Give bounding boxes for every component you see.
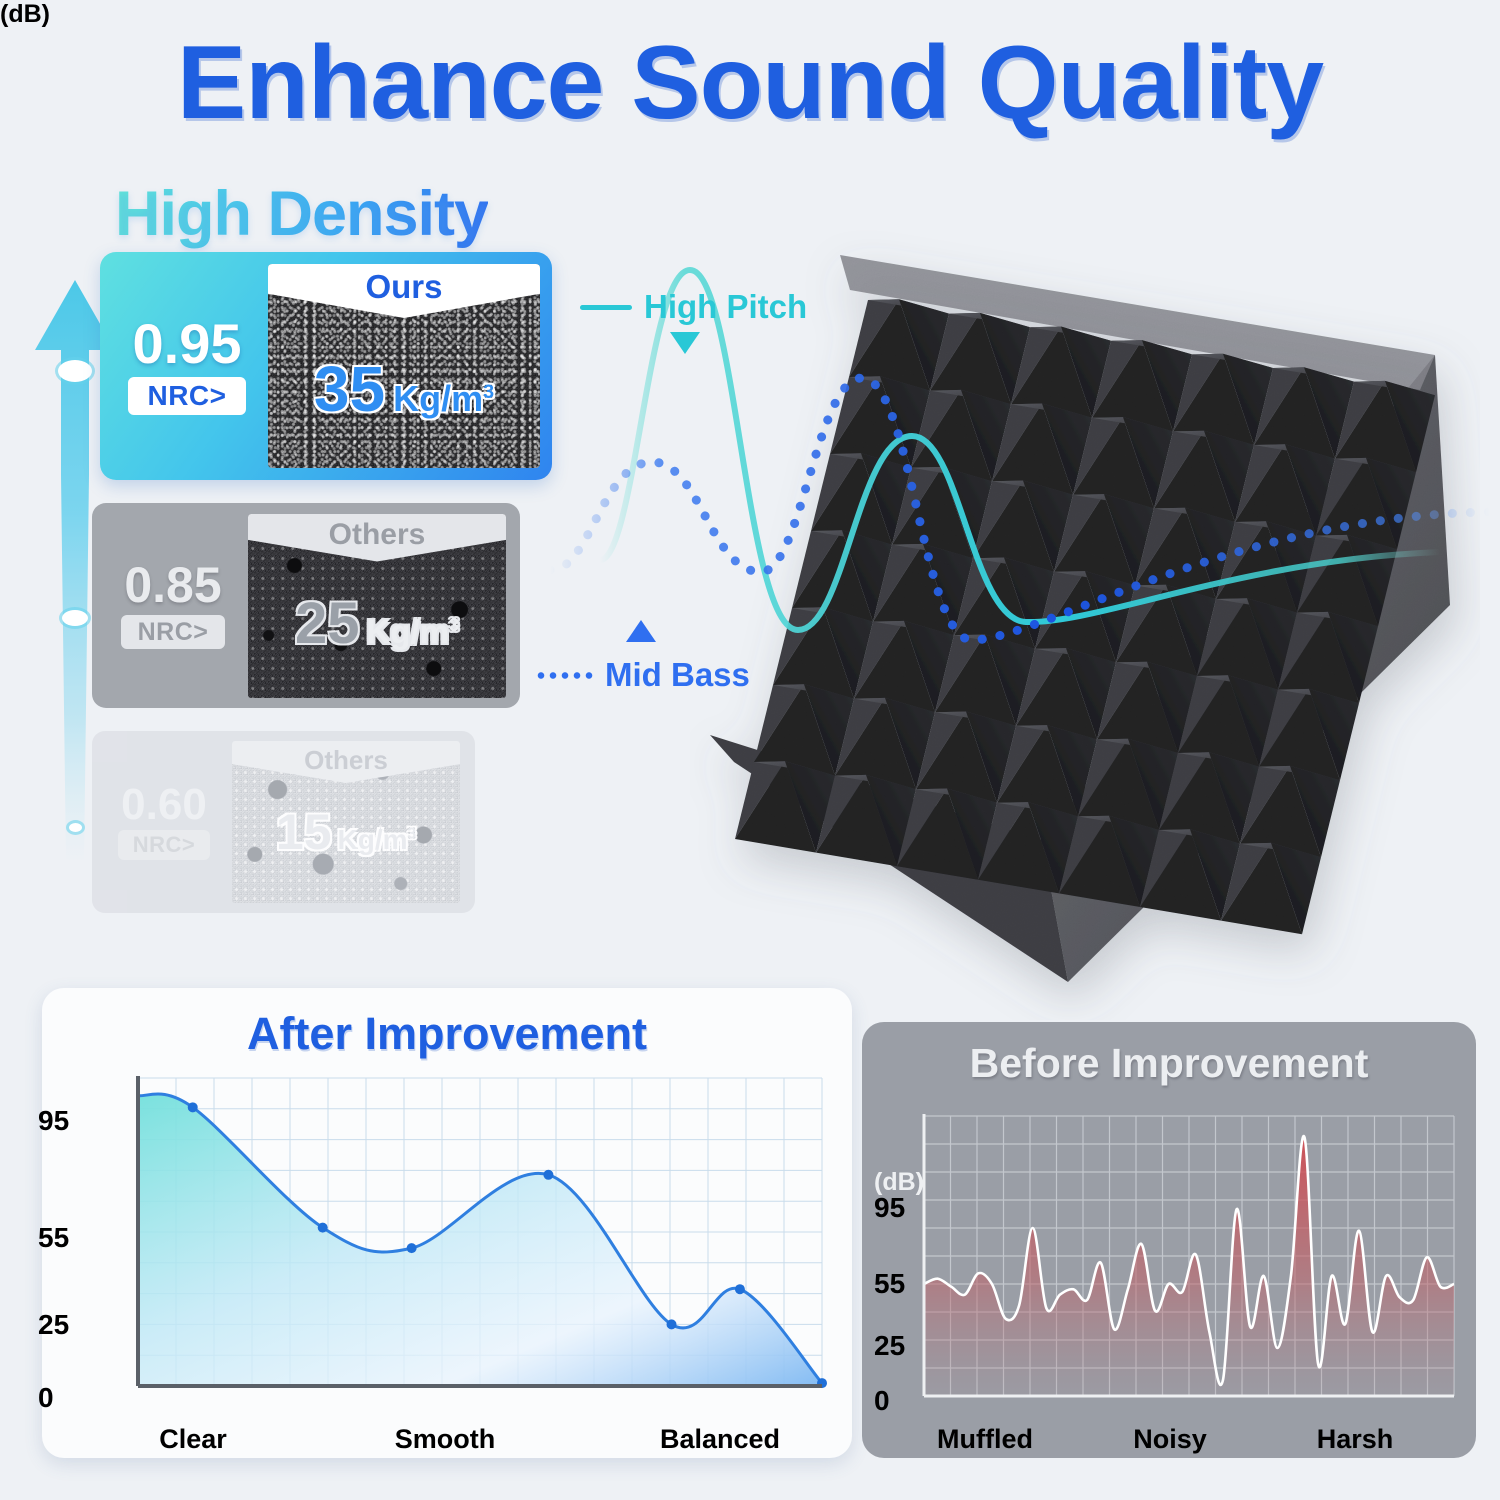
y-tick-95: 95: [38, 1105, 69, 1137]
foam-texture-swatch: Others 25 Kg/m3: [248, 514, 506, 698]
acoustic-foam-panel-illustration: [690, 150, 1480, 1020]
card-banner-label: Ours: [268, 264, 540, 318]
nrc-value: 0.95: [133, 317, 242, 370]
x-tick-harsh: Harsh: [1285, 1424, 1425, 1455]
x-tick-clear: Clear: [118, 1424, 268, 1455]
density-value: 35: [314, 352, 385, 426]
page-title: Enhance Sound Quality: [0, 24, 1500, 143]
axis-marker-dot-1: [58, 360, 92, 382]
density-unit: Kg/m3: [338, 824, 417, 856]
data-point: [543, 1170, 553, 1180]
nrc-column: 0.85 NRC>: [102, 562, 244, 650]
nrc-label: NRC>: [121, 615, 225, 649]
data-point: [735, 1284, 745, 1294]
dotted-line-icon: [535, 672, 593, 679]
triangle-down-icon: [668, 330, 702, 356]
y-tick-before-55: 55: [874, 1268, 905, 1300]
triangle-up-icon: [624, 618, 658, 644]
y-tick-before-95: 95: [874, 1192, 905, 1224]
chart-title: Before Improvement: [862, 1022, 1476, 1087]
x-tick-smooth: Smooth: [370, 1424, 520, 1455]
nrc-label: NRC>: [128, 377, 246, 415]
nrc-column: 0.95 NRC>: [112, 317, 262, 415]
x-tick-noisy: Noisy: [1100, 1424, 1240, 1455]
infographic-root: Enhance Sound Quality High Density 0.95 …: [0, 0, 1500, 1500]
card-banner-label: Others: [248, 514, 506, 562]
x-tick-balanced: Balanced: [630, 1424, 810, 1455]
density-readout: 15 Kg/m3: [232, 803, 460, 861]
legend-high-pitch: High Pitch: [580, 288, 807, 326]
solid-line-icon: [580, 305, 632, 310]
axis-marker-dot-3: [69, 823, 82, 832]
data-point: [188, 1102, 198, 1112]
density-value: 25: [295, 590, 360, 657]
high-density-heading: High Density: [115, 178, 488, 250]
density-card-others-25: 0.85 NRC> Others 25 Kg/m3: [92, 503, 520, 708]
density-readout: 35 Kg/m3: [268, 352, 540, 426]
foam-texture-swatch: Others 15 Kg/m3: [232, 741, 460, 903]
density-readout: 25 Kg/m3: [248, 590, 506, 657]
card-banner-label: Others: [232, 741, 460, 783]
data-point: [407, 1243, 417, 1253]
chart-title: After Improvement: [42, 988, 852, 1060]
axis-marker-dot-2: [62, 610, 88, 626]
density-card-others-15: 0.60 NRC> Others 15 Kg/m3: [92, 731, 475, 913]
y-tick-0: 0: [38, 1382, 54, 1414]
chart-after-improvement: After Improvement: [42, 988, 852, 1458]
nrc-label: NRC>: [118, 830, 210, 860]
density-unit: Kg/m3: [366, 613, 459, 651]
density-unit: Kg/m3: [393, 378, 494, 420]
nrc-column: 0.60 NRC>: [100, 784, 228, 861]
nrc-value: 0.85: [124, 562, 221, 610]
y-tick-before-25: 25: [874, 1330, 905, 1362]
data-point: [318, 1223, 328, 1233]
data-point: [667, 1319, 677, 1329]
y-tick-25: 25: [38, 1309, 69, 1341]
x-tick-muffled: Muffled: [910, 1424, 1060, 1455]
y-axis-unit: (dB): [0, 0, 50, 29]
legend-label: High Pitch: [644, 288, 807, 326]
y-tick-55: 55: [38, 1222, 69, 1254]
chart-before-improvement: Before Improvement: [862, 1022, 1476, 1458]
density-value: 15: [276, 803, 332, 861]
density-card-ours: 0.95 NRC> Ours 35 Kg/m3: [100, 252, 552, 480]
legend-mid-bass: Mid Bass: [535, 656, 750, 694]
foam-texture-swatch: Ours 35 Kg/m3: [268, 264, 540, 468]
nrc-value: 0.60: [121, 784, 207, 826]
legend-label: Mid Bass: [605, 656, 750, 694]
y-tick-before-0: 0: [874, 1385, 890, 1417]
